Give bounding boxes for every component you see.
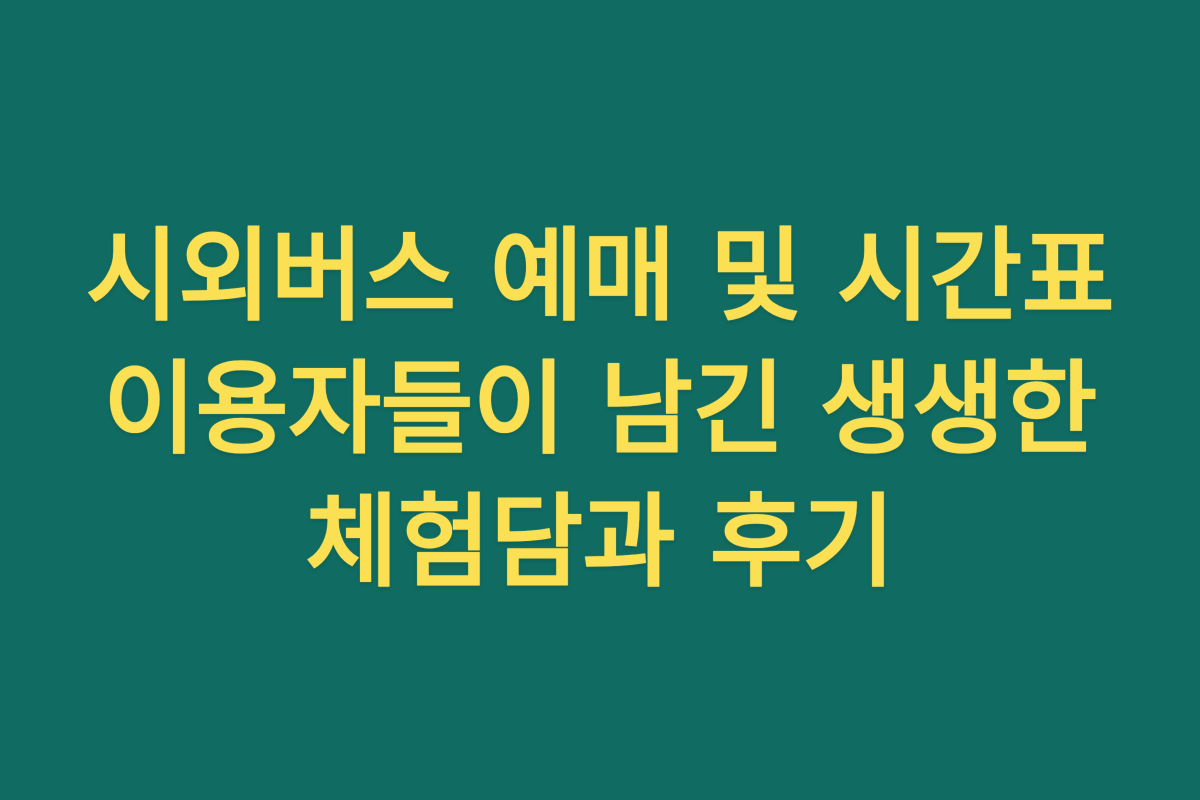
title-block: 시외버스 예매 및 시간표 이용자들이 남긴 생생한 체험담과 후기: [40, 210, 1160, 609]
title-line-2: 이용자들이 남긴 생생한: [103, 343, 1097, 476]
title-line-3: 체험담과 후기: [305, 476, 894, 609]
title-line-1: 시외버스 예매 및 시간표: [86, 210, 1114, 343]
thumbnail-card: 시외버스 예매 및 시간표 이용자들이 남긴 생생한 체험담과 후기: [0, 0, 1200, 800]
